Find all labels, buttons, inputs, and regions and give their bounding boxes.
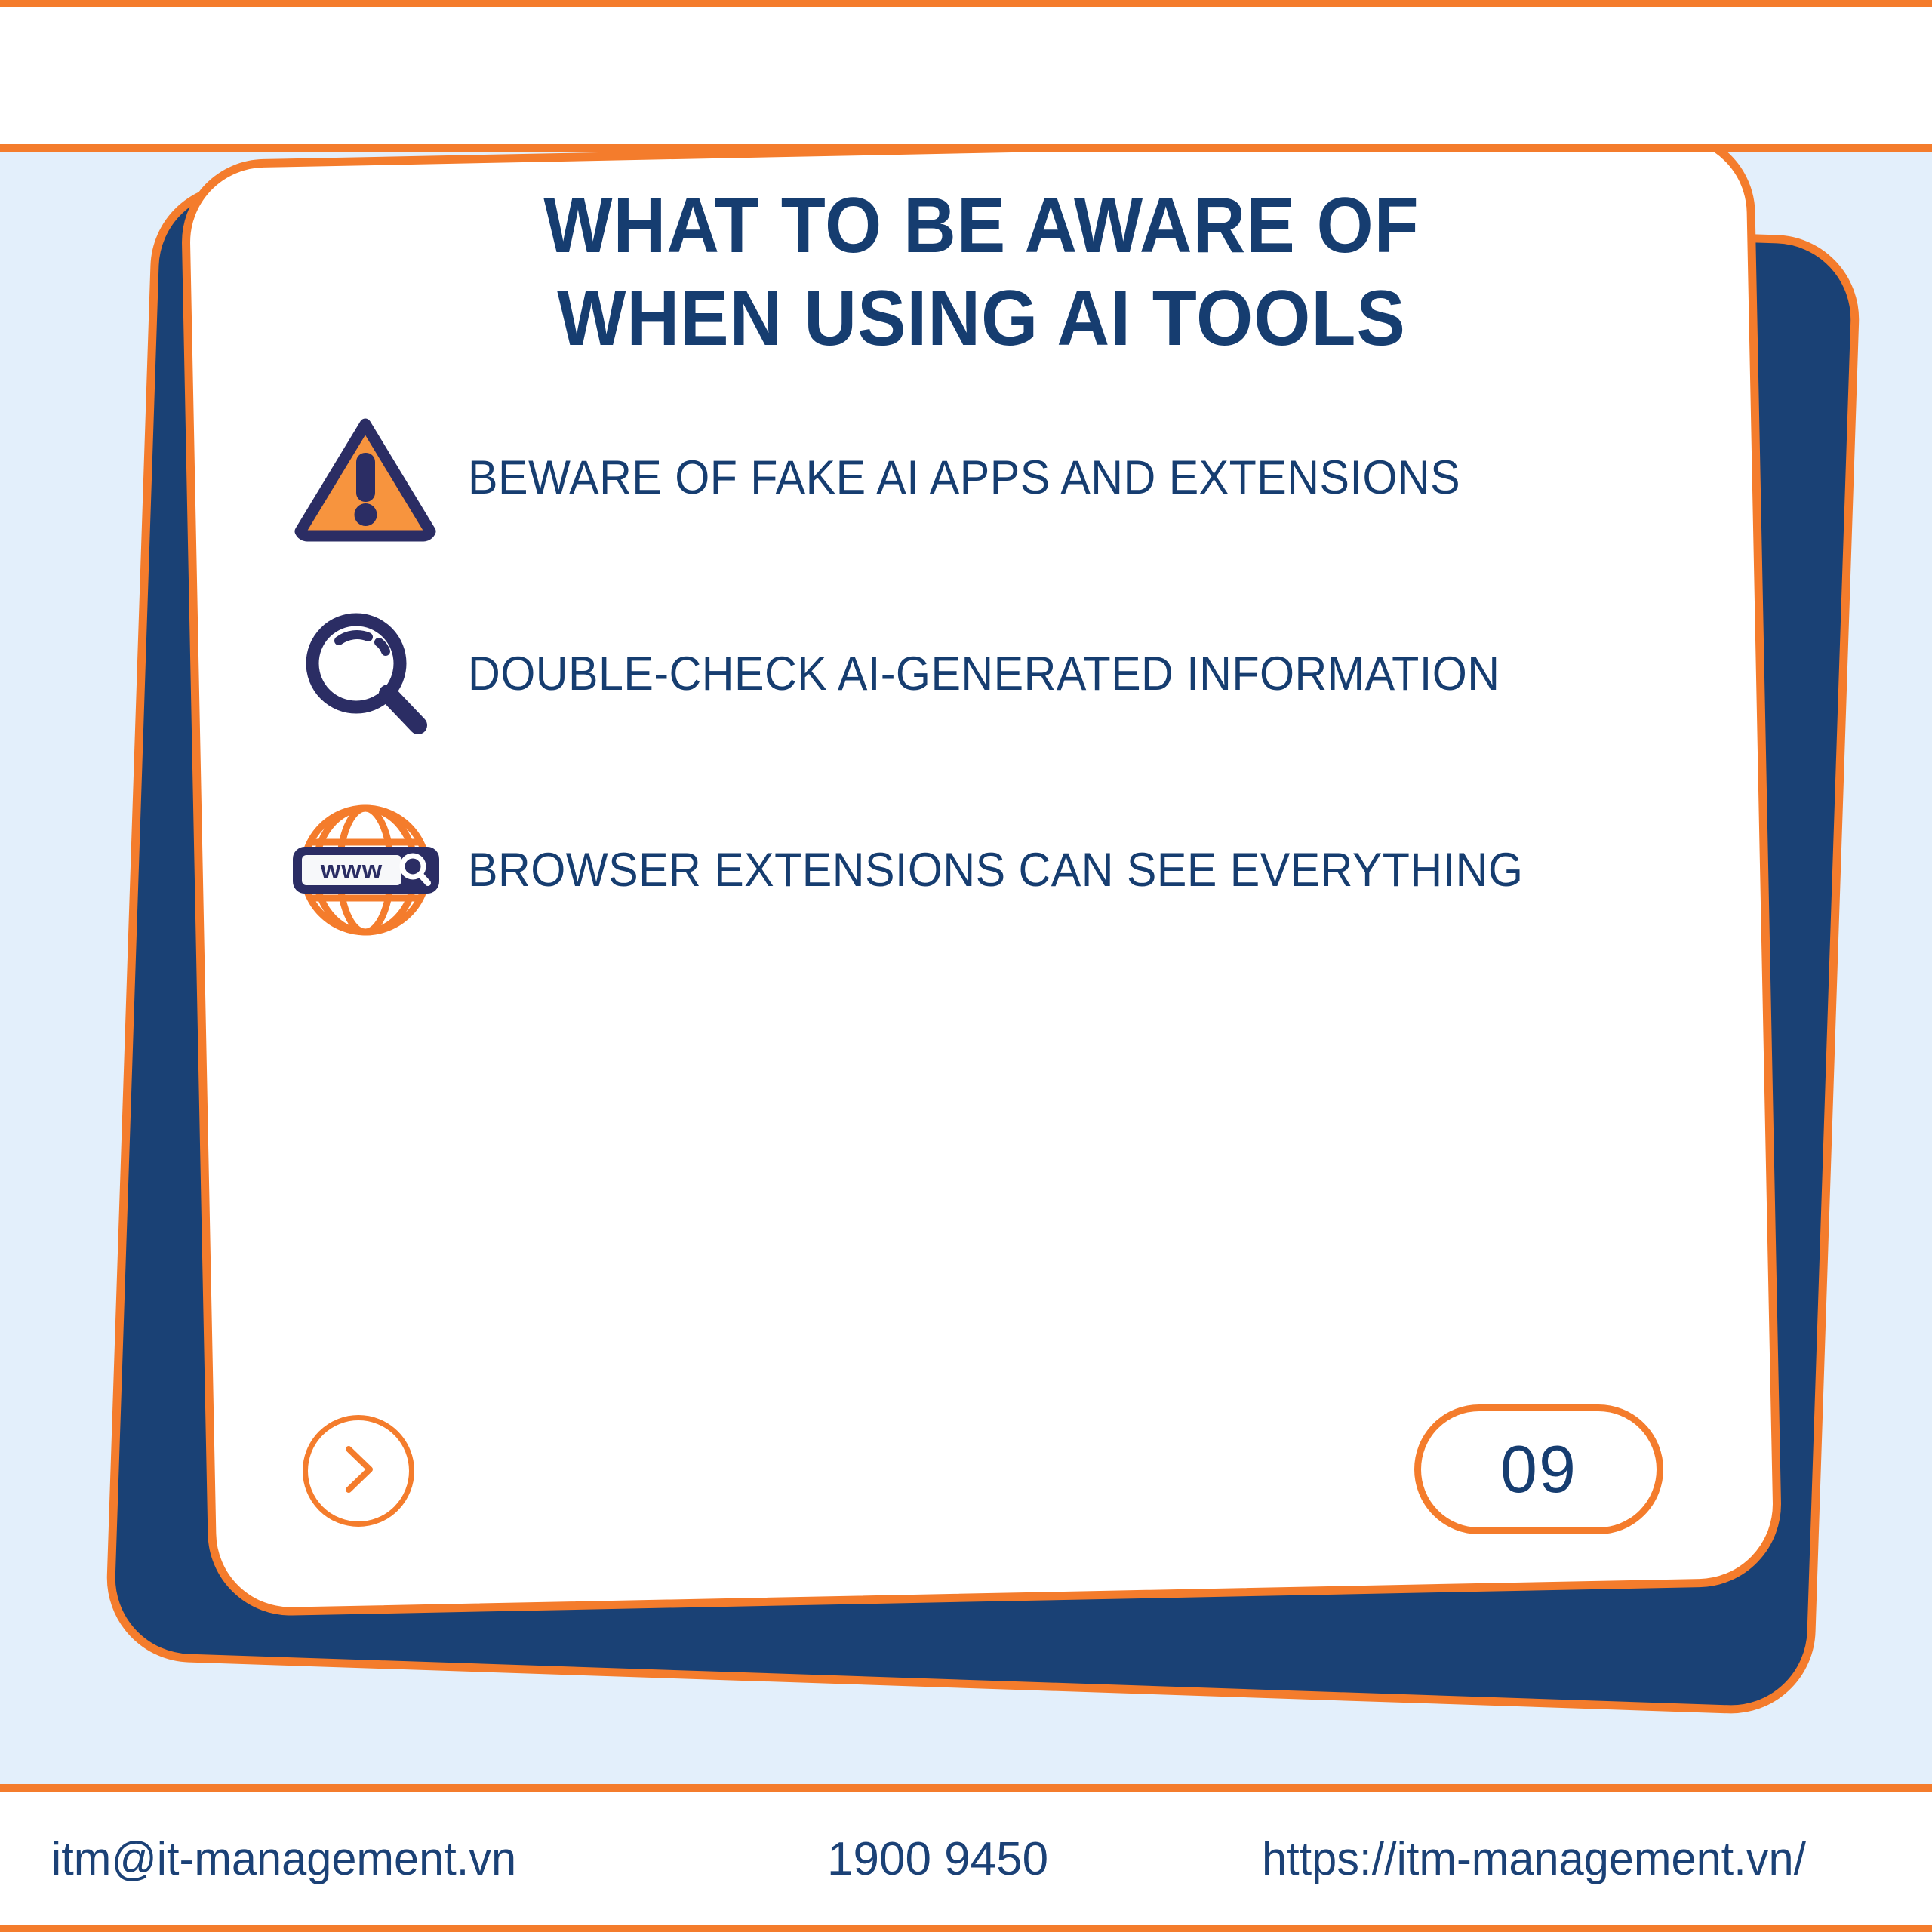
footer-website-url[interactable]: https://itm-management.vn/ (1262, 1832, 1806, 1886)
page-title-line-1: WHAT TO BE AWARE OF (257, 180, 1706, 272)
page-number-value: 09 (1500, 1431, 1577, 1508)
content-card: WHAT TO BE AWARE OF WHEN USING AI TOOLS (180, 152, 1783, 1617)
header-divider-rule (0, 144, 1932, 152)
globe-www-label: www (319, 856, 382, 884)
list-item-label: BEWARE OF FAKE AI APPS AND EXTENSIONS (468, 453, 1460, 503)
bottom-accent-rule (0, 1925, 1932, 1932)
awareness-list: BEWARE OF FAKE AI APPS AND EXTENSIONS (203, 380, 1760, 968)
contact-footer: itm@it-management.vn 1900 9450 https://i… (0, 1792, 1932, 1925)
page-title-line-2: WHEN USING AI TOOLS (257, 272, 1706, 365)
slide-canvas: WHAT TO BE AWARE OF WHEN USING AI TOOLS (0, 152, 1932, 1784)
footer-divider-rule (0, 1784, 1932, 1792)
page-title: WHAT TO BE AWARE OF WHEN USING AI TOOLS (203, 180, 1760, 365)
list-item: DOUBLE-CHECK AI-GENERATED INFORMATION (203, 576, 1760, 772)
next-slide-button[interactable] (303, 1415, 414, 1527)
magnifier-icon (290, 598, 441, 749)
page-number-badge: 09 (1414, 1404, 1663, 1534)
top-accent-rule (0, 0, 1932, 7)
footer-phone[interactable]: 1900 9450 (827, 1832, 1048, 1886)
page-frame: WHAT TO BE AWARE OF WHEN USING AI TOOLS (0, 0, 1932, 1932)
card-inner-content: WHAT TO BE AWARE OF WHEN USING AI TOOLS (203, 153, 1760, 1593)
footer-email[interactable]: itm@it-management.vn (51, 1832, 516, 1886)
chevron-right-icon (332, 1438, 385, 1504)
list-item: BEWARE OF FAKE AI APPS AND EXTENSIONS (203, 380, 1760, 576)
list-item-label: BROWSER EXTENSIONS CAN SEE EVERYTHING (468, 845, 1523, 895)
list-item-label: DOUBLE-CHECK AI-GENERATED INFORMATION (468, 649, 1500, 699)
warning-triangle-icon (290, 402, 441, 553)
list-item: www BROWSER EXTENSIONS CAN SEE EVERYTHIN… (203, 772, 1760, 968)
globe-www-search-icon: www (290, 795, 441, 946)
